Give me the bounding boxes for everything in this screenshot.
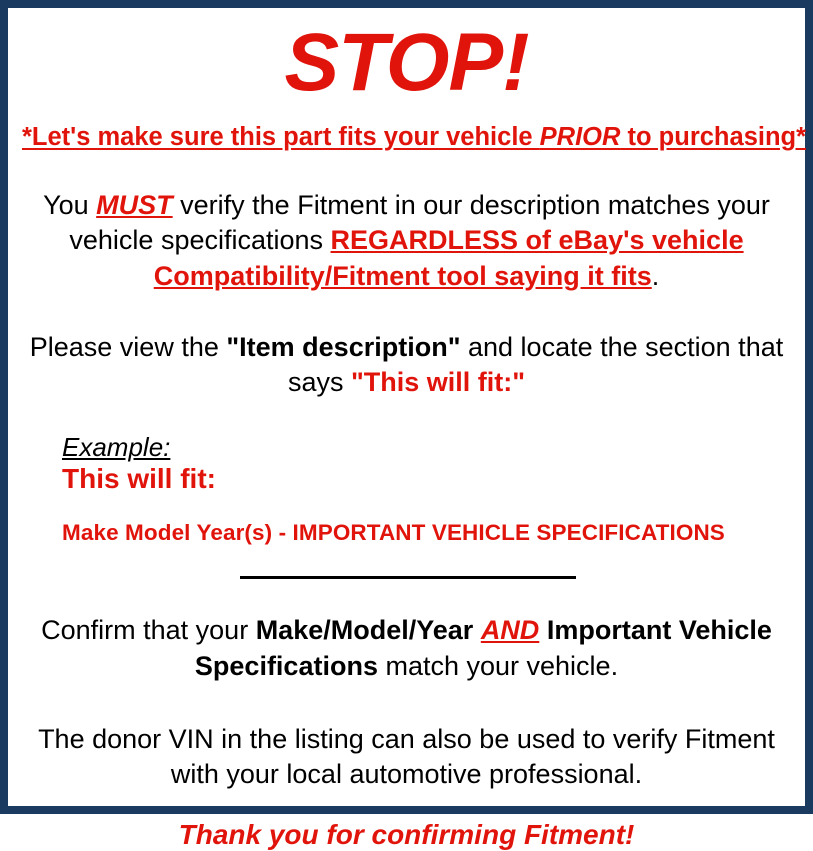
confirm-lead: Confirm that your — [41, 615, 256, 645]
confirm-space-2 — [539, 615, 547, 645]
notice-content: STOP! *Let's make sure this part fits yo… — [8, 8, 805, 806]
emphasis-item-description: "Item description" — [226, 332, 460, 362]
subtitle-prefix: *Let's make sure this part fits your veh… — [22, 123, 540, 151]
example-label: Example: — [62, 433, 170, 462]
confirm-tail: match your vehicle. — [378, 651, 618, 681]
verify-text-lead: You — [43, 190, 96, 220]
example-spec-line: Make Model Year(s) - IMPORTANT VEHICLE S… — [62, 495, 791, 546]
example-block: Example: This will fit: Make Model Year(… — [22, 400, 791, 546]
example-this-will-fit-heading: This will fit: — [62, 462, 791, 495]
verify-text-period: . — [652, 261, 660, 291]
page-title: STOP! — [22, 8, 791, 104]
itemdesc-lead: Please view the — [30, 332, 227, 362]
paragraph-donor-vin: The donor VIN in the listing can also be… — [22, 684, 791, 792]
subtitle-suffix: to purchasing* — [620, 123, 806, 151]
example-label-row: Example: — [62, 433, 791, 462]
confirm-space-1 — [473, 615, 481, 645]
emphasis-must: MUST — [96, 190, 173, 220]
divider-rule — [240, 576, 576, 579]
thank-you-line: Thank you for confirming Fitment! — [22, 792, 791, 851]
emphasis-this-will-fit: "This will fit:" — [351, 367, 525, 397]
subtitle-emphasis-prior: PRIOR — [540, 123, 621, 151]
paragraph-item-description: Please view the "Item description" and l… — [22, 294, 791, 400]
emphasis-make-model-year: Make/Model/Year — [256, 615, 474, 645]
subtitle-banner: *Let's make sure this part fits your veh… — [22, 104, 791, 152]
fitment-notice-card: STOP! *Let's make sure this part fits yo… — [0, 0, 813, 814]
divider — [22, 545, 791, 579]
paragraph-verify-fitment: You MUST verify the Fitment in our descr… — [22, 152, 791, 293]
emphasis-and: AND — [481, 615, 540, 645]
paragraph-confirm-match: Confirm that your Make/Model/Year AND Im… — [22, 579, 791, 683]
